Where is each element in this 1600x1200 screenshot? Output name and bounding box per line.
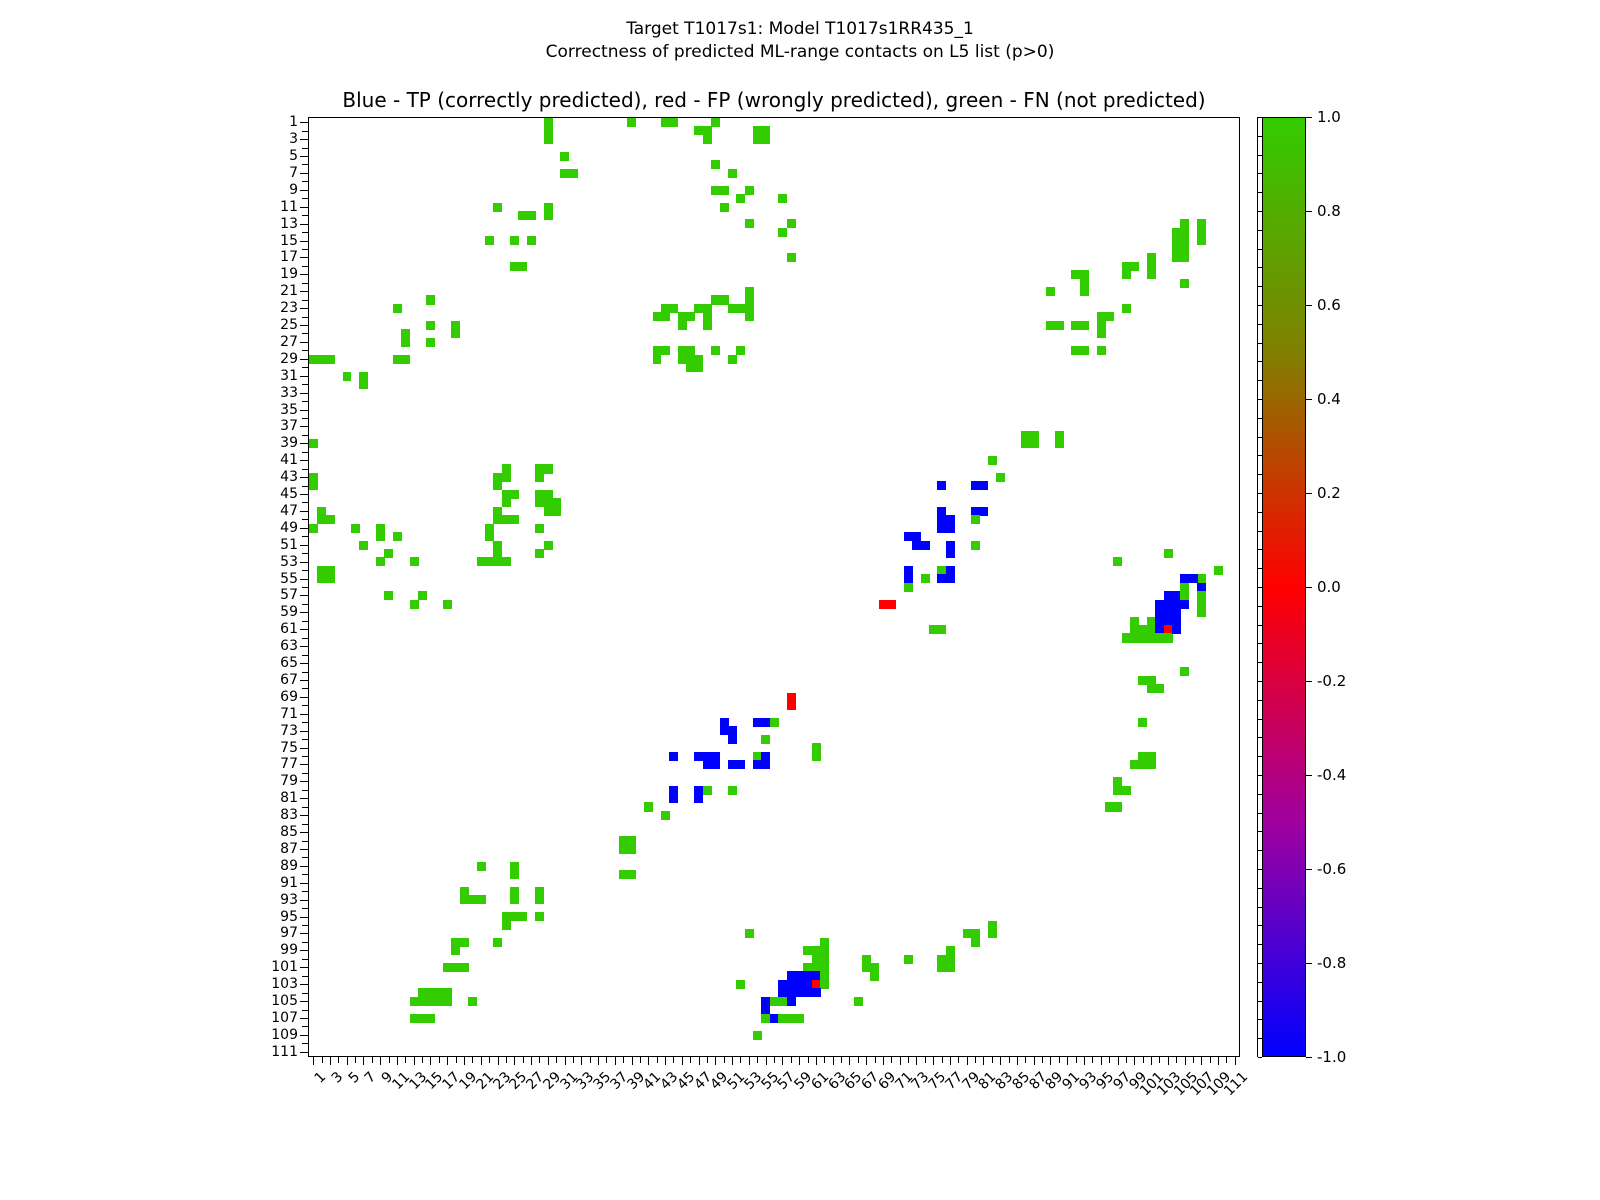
y-tick (302, 401, 309, 402)
contact-cell-fn (971, 938, 980, 947)
colorbar-minor-tick (1258, 343, 1262, 344)
x-tick (1151, 1056, 1152, 1065)
y-tick (302, 570, 309, 571)
x-tick (875, 1056, 876, 1063)
x-tick (573, 1056, 574, 1063)
contact-cell-fn (426, 321, 435, 330)
x-tick (1101, 1056, 1102, 1065)
contact-cell-fn (1113, 557, 1122, 566)
x-tick (782, 1056, 783, 1065)
contact-cell-fn (728, 355, 737, 364)
x-tick (355, 1056, 356, 1063)
colorbar-minor-tick (1258, 737, 1262, 738)
x-tick (967, 1056, 968, 1065)
contact-cell-fn (510, 895, 519, 904)
y-tick (300, 612, 309, 613)
contact-cell-fn (535, 549, 544, 558)
contact-cell-fn (761, 735, 770, 744)
y-tick (302, 807, 309, 808)
y-tick (302, 739, 309, 740)
y-tick (302, 198, 309, 199)
y-tick (300, 883, 309, 884)
y-tick (302, 841, 309, 842)
x-tick (715, 1056, 716, 1065)
y-tick (302, 418, 309, 419)
y-tick (302, 1010, 309, 1011)
x-tick (456, 1056, 457, 1063)
y-tick (302, 604, 309, 605)
x-tick (397, 1056, 398, 1065)
y-axis-tick-label: 59 (280, 604, 298, 620)
y-tick (302, 283, 309, 284)
contact-cell-fn (686, 355, 695, 364)
contact-cell-fn (703, 786, 712, 795)
contact-cell-fn (384, 591, 393, 600)
y-tick (302, 790, 309, 791)
contact-cell-fn (393, 532, 402, 541)
contact-cell-fn (502, 557, 511, 566)
y-tick (300, 595, 309, 596)
contact-cell-fn (1080, 287, 1089, 296)
contact-matrix (309, 118, 1239, 1056)
contact-cell-fn (384, 549, 393, 558)
contact-cell-fn (485, 236, 494, 245)
x-tick (916, 1056, 917, 1065)
contact-cell-fn (1180, 253, 1189, 262)
colorbar-tick (1306, 117, 1312, 118)
contact-cell-fn (1197, 236, 1206, 245)
y-axis-tick-label: 63 (280, 638, 298, 654)
x-tick (1201, 1056, 1202, 1065)
contact-cell-fn (502, 473, 511, 482)
contact-cell-fn (527, 211, 536, 220)
contact-cell-fn (510, 887, 519, 896)
y-axis-tick-label: 9 (289, 182, 298, 198)
contact-cell-fn (988, 929, 997, 938)
x-tick (389, 1056, 390, 1063)
x-axis-tick-label: 3 (329, 1069, 347, 1087)
colorbar-tick-label: 0.8 (1317, 202, 1341, 220)
y-tick (302, 384, 309, 385)
y-axis-tick-label: 33 (280, 385, 298, 401)
colorbar-tick-label: -1.0 (1317, 1048, 1346, 1066)
colorbar: 1.00.80.60.40.20.0-0.2-0.4-0.6-0.8-1.0 (1262, 117, 1306, 1057)
x-tick (1017, 1056, 1018, 1065)
contact-cell-fn (477, 862, 486, 871)
y-tick (302, 502, 309, 503)
colorbar-tick-label: -0.2 (1317, 672, 1346, 690)
contact-cell-fn (619, 870, 628, 879)
y-axis-tick-label: 11 (280, 199, 298, 215)
x-tick (430, 1056, 431, 1065)
colorbar-tick-label: -0.4 (1317, 766, 1346, 784)
y-axis-tick-label: 7 (289, 165, 298, 181)
y-tick (302, 638, 309, 639)
colorbar-tick-label: 1.0 (1317, 108, 1341, 126)
y-axis-tick-label: 89 (280, 858, 298, 874)
contact-cell-fn (745, 929, 754, 938)
colorbar-tick (1306, 587, 1312, 588)
contact-cell-fn (644, 802, 653, 811)
colorbar-tick-label: 0.6 (1317, 296, 1341, 314)
figure-title-line1: Target T1017s1: Model T1017s1RR435_1 (0, 18, 1600, 41)
contact-cell-fn (460, 963, 469, 972)
y-tick (302, 874, 309, 875)
contact-cell-tp (1172, 625, 1181, 634)
y-axis-tick-label: 85 (280, 824, 298, 840)
x-tick (1193, 1056, 1194, 1063)
x-tick (363, 1056, 364, 1065)
y-tick (300, 764, 309, 765)
colorbar-minor-tick (1258, 286, 1262, 287)
x-tick (330, 1056, 331, 1065)
y-tick (302, 367, 309, 368)
colorbar-tick-label: 0.0 (1317, 578, 1341, 596)
contact-cell-fn (653, 355, 662, 364)
colorbar-minor-tick (1258, 1001, 1262, 1002)
contact-cell-fn (376, 524, 385, 533)
colorbar-minor-tick (1258, 850, 1262, 851)
y-axis-tick-label: 57 (280, 587, 298, 603)
y-axis-tick-label: 83 (280, 807, 298, 823)
contact-cell-fn (1113, 802, 1122, 811)
x-tick (1067, 1056, 1068, 1065)
y-tick (300, 443, 309, 444)
contact-cell-fn (862, 963, 871, 972)
y-axis-tick-label: 3 (289, 131, 298, 147)
y-tick (300, 207, 309, 208)
x-tick (422, 1056, 423, 1063)
colorbar-minor-tick (1258, 531, 1262, 532)
contact-cell-fn (921, 574, 930, 583)
contact-cell-fn (393, 304, 402, 313)
y-axis-tick-label: 75 (280, 740, 298, 756)
contact-cell-fn (376, 557, 385, 566)
contact-cell-fn (451, 329, 460, 338)
contact-cell-fn (778, 997, 787, 1006)
x-axis-tick-label: 1 (312, 1069, 330, 1087)
y-tick (302, 1043, 309, 1044)
y-tick (300, 849, 309, 850)
x-tick (665, 1056, 666, 1065)
y-axis-tick-label: 43 (280, 469, 298, 485)
contact-cell-fn (418, 591, 427, 600)
contact-cell-fn (460, 938, 469, 947)
contact-cell-fn (451, 946, 460, 955)
contact-cell-fn (443, 600, 452, 609)
y-tick (300, 257, 309, 258)
y-tick (300, 156, 309, 157)
x-tick (1134, 1056, 1135, 1065)
contact-cell-fn (343, 372, 352, 381)
contact-cell-fn (770, 718, 779, 727)
x-tick (581, 1056, 582, 1065)
contact-cell-fn (359, 380, 368, 389)
y-axis-tick-label: 19 (280, 266, 298, 282)
colorbar-minor-tick (1258, 982, 1262, 983)
colorbar-minor-tick (1258, 907, 1262, 908)
contact-cell-fn (1097, 329, 1106, 338)
y-tick (302, 181, 309, 182)
contact-cell-fn (711, 186, 720, 195)
contact-cell-fn (1197, 608, 1206, 617)
x-tick (757, 1056, 758, 1063)
contact-cell-tp (711, 760, 720, 769)
x-tick (623, 1056, 624, 1063)
y-tick (302, 621, 309, 622)
y-axis-tick-label: 97 (280, 925, 298, 941)
y-axis-tick-label: 31 (280, 368, 298, 384)
contact-cell-fn (1180, 667, 1189, 676)
y-tick (302, 164, 309, 165)
x-tick (958, 1056, 959, 1063)
y-tick (302, 350, 309, 351)
contact-cell-fn (510, 515, 519, 524)
contact-cell-fn (787, 219, 796, 228)
contact-cell-fn (477, 895, 486, 904)
x-tick (933, 1056, 934, 1065)
x-tick (1109, 1056, 1110, 1063)
contact-cell-fn (493, 938, 502, 947)
y-tick (300, 511, 309, 512)
colorbar-minor-tick (1258, 211, 1262, 212)
y-axis-tick-label: 47 (280, 503, 298, 519)
y-tick (300, 308, 309, 309)
contact-cell-fn (736, 346, 745, 355)
y-tick (300, 241, 309, 242)
x-tick (414, 1056, 415, 1065)
y-tick (300, 579, 309, 580)
y-tick (302, 435, 309, 436)
y-tick (300, 832, 309, 833)
x-tick (531, 1056, 532, 1065)
colorbar-tick (1306, 963, 1312, 964)
contact-cell-fn (376, 532, 385, 541)
colorbar-minor-tick (1258, 662, 1262, 663)
y-axis-tick-label: 69 (280, 689, 298, 705)
x-tick (523, 1056, 524, 1063)
y-tick (300, 190, 309, 191)
contact-cell-fn (1155, 684, 1164, 693)
x-tick (1143, 1056, 1144, 1063)
y-tick (300, 224, 309, 225)
contact-cell-fn (904, 583, 913, 592)
y-tick (302, 756, 309, 757)
contact-cell-fn (1164, 549, 1173, 558)
y-tick (302, 688, 309, 689)
x-tick (657, 1056, 658, 1063)
x-tick (1185, 1056, 1186, 1065)
contact-cell-tp (946, 574, 955, 583)
contact-cell-fn (820, 980, 829, 989)
x-tick (841, 1056, 842, 1063)
x-tick (615, 1056, 616, 1065)
x-tick (313, 1056, 314, 1065)
contact-cell-fn (1138, 718, 1147, 727)
colorbar-tick (1306, 775, 1312, 776)
y-tick (302, 148, 309, 149)
contact-cell-fn (1180, 591, 1189, 600)
y-tick (302, 249, 309, 250)
y-axis-tick-label: 29 (280, 351, 298, 367)
x-tick (498, 1056, 499, 1065)
y-tick (302, 131, 309, 132)
y-tick (300, 663, 309, 664)
contact-cell-fn (736, 980, 745, 989)
y-tick (300, 274, 309, 275)
y-tick (300, 325, 309, 326)
x-tick (900, 1056, 901, 1065)
contact-cell-fn (795, 1014, 804, 1023)
contact-cell-fn (778, 228, 787, 237)
contact-cell-fn (535, 524, 544, 533)
x-tick (858, 1056, 859, 1063)
x-tick (983, 1056, 984, 1065)
axes-title: Blue - TP (correctly predicted), red - F… (308, 88, 1240, 112)
y-tick (300, 646, 309, 647)
contact-cell-fn (552, 507, 561, 516)
colorbar-minor-tick (1258, 173, 1262, 174)
colorbar-minor-tick (1258, 361, 1262, 362)
contact-cell-fn (619, 845, 628, 854)
x-tick (791, 1056, 792, 1063)
contact-cell-tp (736, 760, 745, 769)
contact-cell-fn (1071, 321, 1080, 330)
contact-cell-fn (904, 955, 913, 964)
y-tick (302, 553, 309, 554)
y-axis-tick-label: 81 (280, 790, 298, 806)
y-tick (302, 452, 309, 453)
colorbar-minor-tick (1258, 267, 1262, 268)
colorbar-minor-tick (1258, 1019, 1262, 1020)
y-axis-tick-label: 79 (280, 773, 298, 789)
contact-cell-tp (761, 760, 770, 769)
y-tick (300, 950, 309, 951)
y-axis-tick-label: 45 (280, 486, 298, 502)
colorbar-minor-tick (1258, 437, 1262, 438)
y-tick (302, 705, 309, 706)
x-tick (824, 1056, 825, 1063)
x-tick (774, 1056, 775, 1063)
colorbar-minor-tick (1258, 643, 1262, 644)
y-axis-tick-label: 13 (280, 216, 298, 232)
contact-cell-fn (1055, 431, 1064, 440)
y-tick (300, 376, 309, 377)
contact-cell-fn (1122, 304, 1131, 313)
contact-cell-fn (359, 541, 368, 550)
colorbar-minor-tick (1258, 418, 1262, 419)
contact-cell-fn (745, 312, 754, 321)
y-axis-tick-label: 21 (280, 283, 298, 299)
colorbar-tick-label: -0.6 (1317, 860, 1346, 878)
figure-title-block: Target T1017s1: Model T1017s1RR435_1 Cor… (0, 18, 1600, 64)
contact-cell-fn (745, 219, 754, 228)
contact-cell-fn (854, 997, 863, 1006)
x-tick (942, 1056, 943, 1063)
contact-cell-fn (1147, 253, 1156, 262)
colorbar-minor-tick (1258, 117, 1262, 118)
contact-cell-fn (720, 203, 729, 212)
y-tick (300, 494, 309, 495)
x-tick (699, 1056, 700, 1065)
x-tick (766, 1056, 767, 1065)
contact-cell-fn (544, 126, 553, 135)
x-tick (1235, 1056, 1236, 1065)
x-tick (632, 1056, 633, 1065)
colorbar-minor-tick (1258, 944, 1262, 945)
colorbar-tick-label: 0.2 (1317, 484, 1341, 502)
y-axis-tick-label: 95 (280, 909, 298, 925)
y-tick (302, 857, 309, 858)
x-axis-tick-label: 7 (362, 1069, 380, 1087)
contact-cell-fn (778, 194, 787, 203)
contact-cell-fn (502, 921, 511, 930)
y-tick (300, 917, 309, 918)
contact-cell-fn (678, 321, 687, 330)
contact-cell-fn (518, 262, 527, 271)
x-tick (740, 1056, 741, 1063)
colorbar-tick (1306, 211, 1312, 212)
colorbar-minor-tick (1258, 831, 1262, 832)
contact-cell-fn (560, 152, 569, 161)
y-tick (302, 1026, 309, 1027)
y-axis-tick-label: 27 (280, 334, 298, 350)
contact-cell-fn (661, 811, 670, 820)
y-tick (300, 900, 309, 901)
colorbar-minor-tick (1258, 549, 1262, 550)
y-tick (302, 773, 309, 774)
contact-cell-fn (1147, 270, 1156, 279)
y-axis-tick-label: 15 (280, 233, 298, 249)
x-tick (648, 1056, 649, 1065)
colorbar-gradient (1262, 117, 1306, 1057)
x-tick (640, 1056, 641, 1063)
x-tick (1009, 1056, 1010, 1063)
y-tick (302, 469, 309, 470)
contact-cell-fn (535, 912, 544, 921)
x-tick (1092, 1056, 1093, 1063)
contact-cell-fn (812, 743, 821, 752)
y-tick (300, 781, 309, 782)
y-axis-tick-label: 101 (271, 959, 298, 975)
contact-cell-fn (1130, 262, 1139, 271)
contact-cell-fn (351, 524, 360, 533)
contact-cell-fn (326, 515, 335, 524)
y-tick (302, 722, 309, 723)
contact-cell-fn (426, 1014, 435, 1023)
contact-cell-tp (812, 988, 821, 997)
x-tick (481, 1056, 482, 1065)
y-tick (300, 815, 309, 816)
contact-cell-fn (1080, 321, 1089, 330)
y-tick (300, 426, 309, 427)
contact-cell-fn (929, 625, 938, 634)
contact-cell-fp (787, 701, 796, 710)
colorbar-minor-tick (1258, 963, 1262, 964)
contact-cell-tp (946, 549, 955, 558)
contact-cell-fn (703, 135, 712, 144)
colorbar-minor-tick (1258, 700, 1262, 701)
contact-cell-fn (410, 600, 419, 609)
y-axis-tick-label: 107 (271, 1010, 298, 1026)
contact-cell-fn (1122, 270, 1131, 279)
y-axis-tick-label: 35 (280, 402, 298, 418)
y-axis-tick-label: 65 (280, 655, 298, 671)
contact-cell-fp (887, 600, 896, 609)
colorbar-minor-tick (1258, 568, 1262, 569)
contact-cell-fn (468, 997, 477, 1006)
contact-cell-fn (309, 481, 318, 490)
